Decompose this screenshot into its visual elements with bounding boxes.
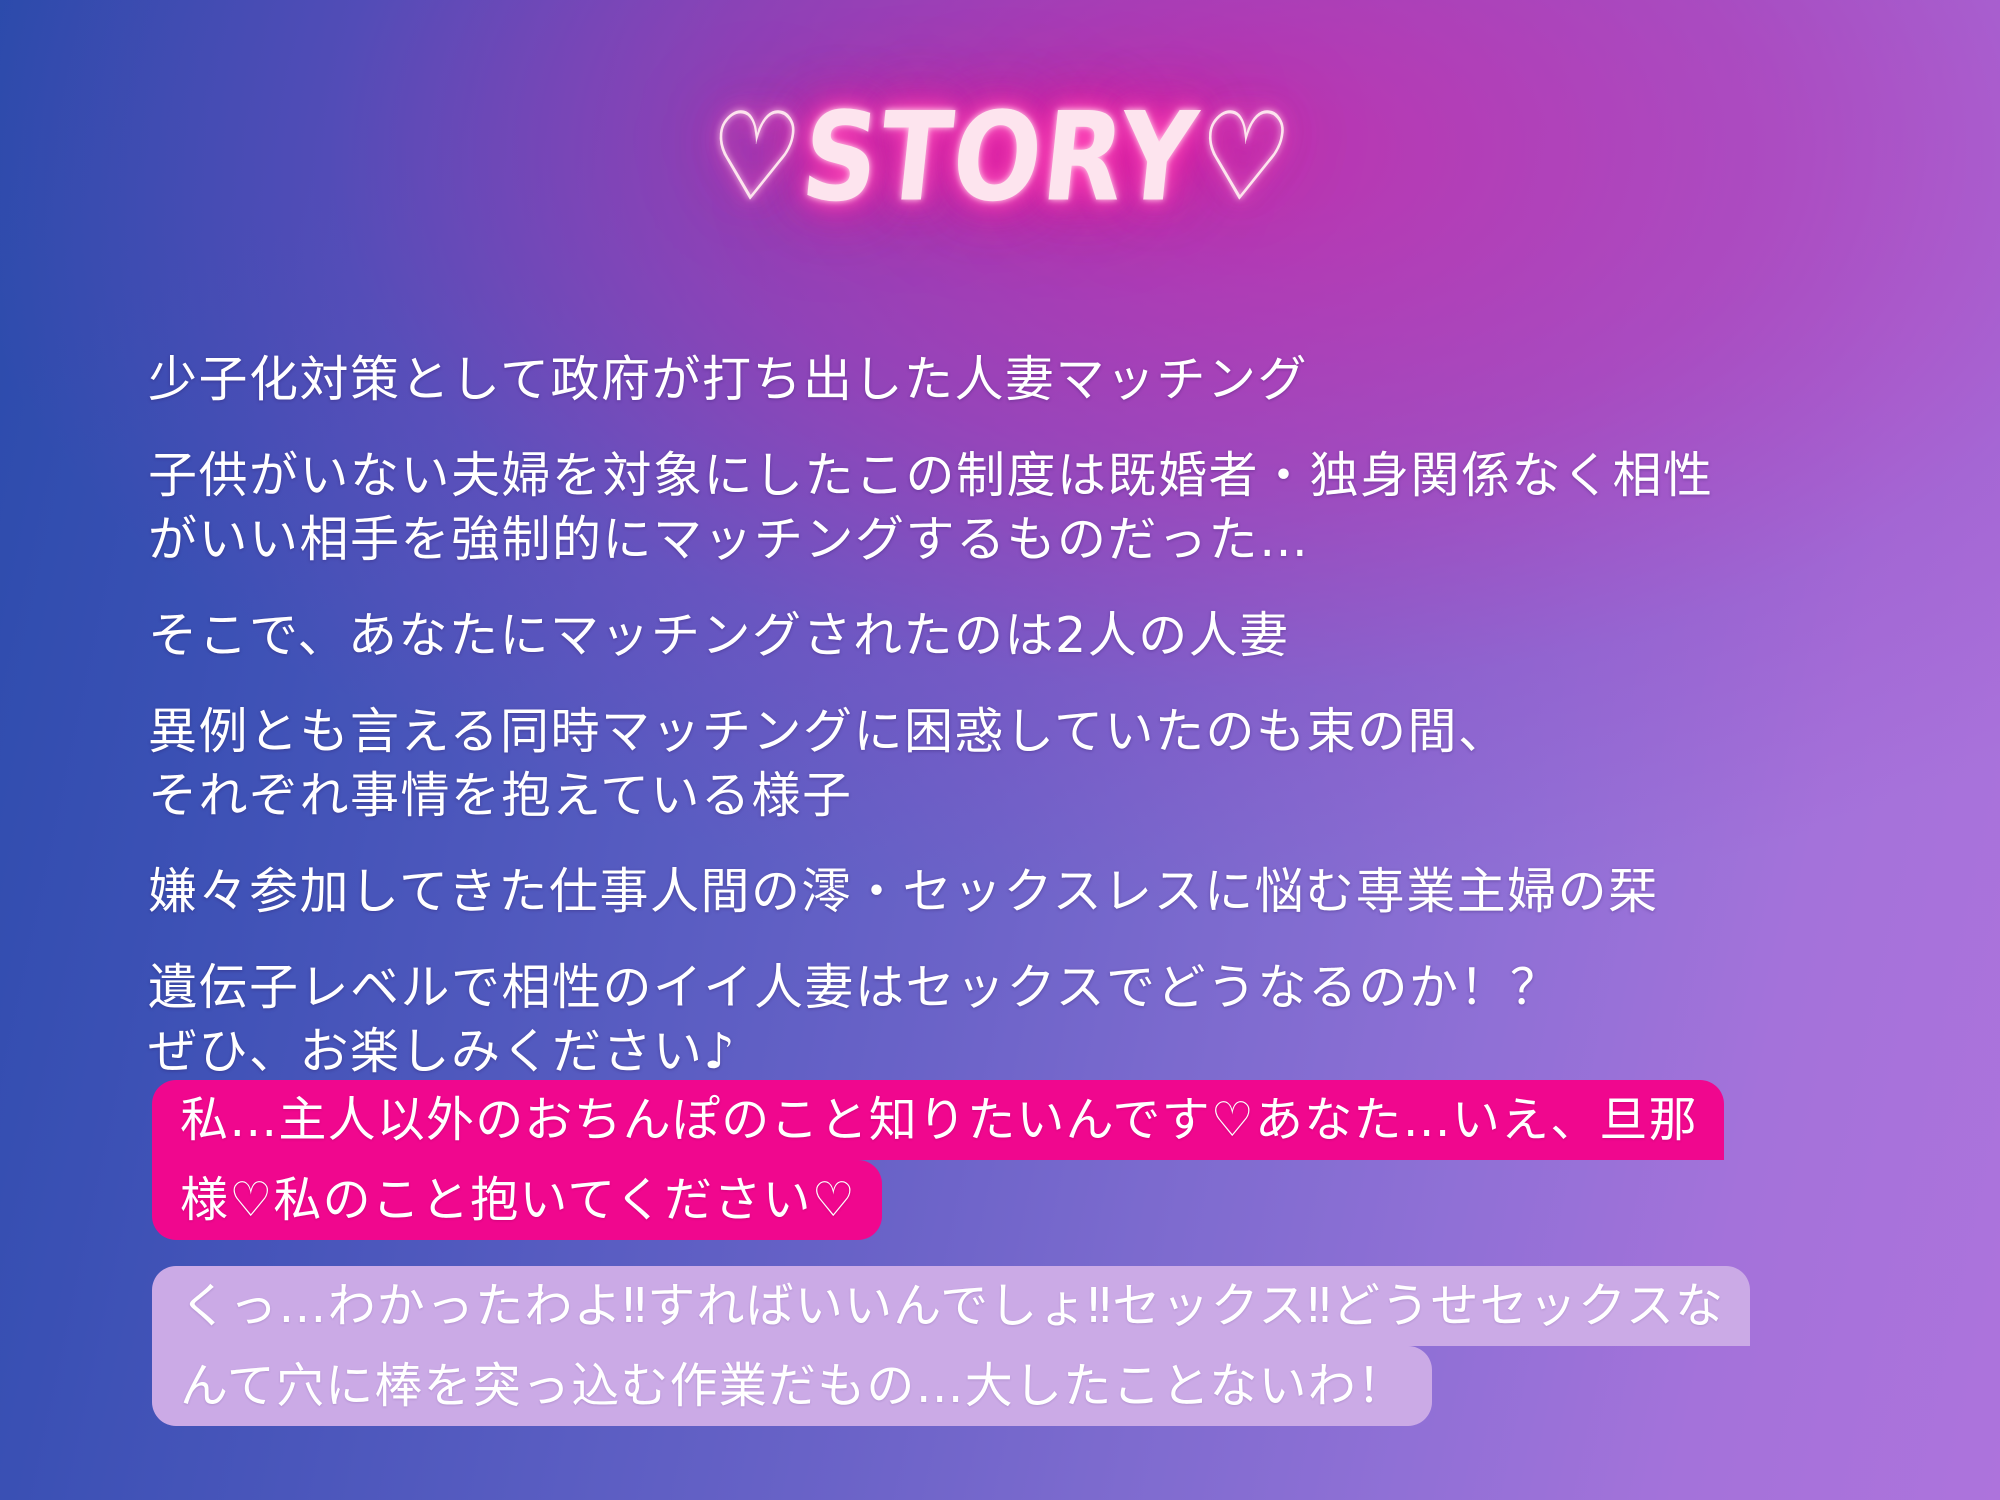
bubble-line: 様♡私のこと抱いてください♡ xyxy=(152,1160,882,1240)
bubble-line: 私…主人以外のおちんぽのこと知りたいんです♡あなた…いえ、旦那 xyxy=(152,1080,1724,1160)
spacer xyxy=(152,1240,1912,1266)
spacer xyxy=(148,572,1908,604)
story-paragraph: 異例とも言える同時マッチングに困惑していたのも束の間、 xyxy=(148,700,1908,764)
story-paragraph: がいい相手を強制的にマッチングするものだった… xyxy=(148,508,1908,572)
bubble-line: くっ…わかったわよ‼すればいいんでしょ‼セックス‼どうせセックスな xyxy=(152,1266,1750,1346)
spacer xyxy=(148,828,1908,860)
story-paragraph: それぞれ事情を抱えている様子 xyxy=(148,764,1908,828)
speech-bubble-mio: くっ…わかったわよ‼すればいいんでしょ‼セックス‼どうせセックスな んて穴に棒を… xyxy=(152,1266,1912,1426)
bubble-line: んて穴に棒を突っ込む作業だもの…大したことないわ！ xyxy=(152,1346,1432,1426)
story-paragraph: 遺伝子レベルで相性のイイ人妻はセックスでどうなるのか！？ xyxy=(148,956,1908,1020)
story-paragraph: そこで、あなたにマッチングされたのは2人の人妻 xyxy=(148,604,1908,668)
dialogue-bubbles: 私…主人以外のおちんぽのこと知りたいんです♡あなた…いえ、旦那 様♡私のこと抱い… xyxy=(152,1080,1912,1426)
speech-bubble-shiori: 私…主人以外のおちんぽのこと知りたいんです♡あなた…いえ、旦那 様♡私のこと抱い… xyxy=(152,1080,1912,1240)
story-paragraph: 嫌々参加してきた仕事人間の澪・セックスレスに悩む専業主婦の栞 xyxy=(148,860,1908,924)
story-paragraph: 子供がいない夫婦を対象にしたこの制度は既婚者・独身関係なく相性 xyxy=(148,444,1908,508)
story-body: 少子化対策として政府が打ち出した人妻マッチング 子供がいない夫婦を対象にしたこの… xyxy=(148,348,1908,1084)
spacer xyxy=(148,924,1908,956)
story-paragraph: 少子化対策として政府が打ち出した人妻マッチング xyxy=(148,348,1908,412)
page-title: ♡STORY♡ xyxy=(700,85,1300,229)
title-container: ♡STORY♡ xyxy=(0,96,2000,218)
story-page: ♡STORY♡ 少子化対策として政府が打ち出した人妻マッチング 子供がいない夫婦… xyxy=(0,0,2000,1500)
spacer xyxy=(148,412,1908,444)
spacer xyxy=(148,668,1908,700)
story-paragraph: ぜひ、お楽しみください♪ xyxy=(148,1020,1908,1084)
